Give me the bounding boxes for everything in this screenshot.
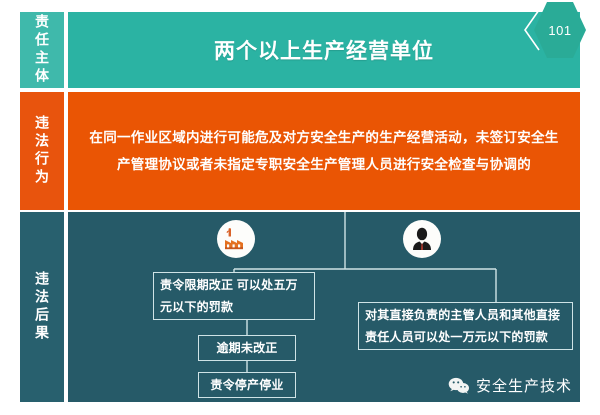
page-number-text: 101 — [548, 23, 571, 38]
slide-root: 责任主体 两个以上生产经营单位 101 违法行为 在同一作业区域内进行可能危及对… — [0, 0, 600, 415]
row-label-text: 违法后果 — [35, 271, 49, 343]
illegal-act-description: 在同一作业区域内进行可能危及对方安全生产的生产经营活动，未签订安全生产管理协议或… — [88, 92, 560, 210]
row-responsible-subject: 责任主体 两个以上生产经营单位 — [20, 12, 580, 88]
consequence-box-overdue: 逾期未改正 — [198, 335, 296, 361]
row-label-legal-consequence: 违法后果 — [20, 212, 64, 402]
row-body-responsible-subject: 两个以上生产经营单位 — [68, 12, 580, 88]
consequence-box-stop-production: 责令停产停业 — [198, 372, 296, 398]
row-legal-consequence: 违法后果 — [20, 212, 580, 402]
row-label-text: 责任主体 — [35, 14, 49, 86]
row-label-text: 违法行为 — [35, 115, 49, 187]
watermark-text: 安全生产技术 — [476, 375, 572, 396]
businessman-glyph — [410, 227, 434, 251]
factory-icon — [217, 220, 255, 258]
row-illegal-act: 违法行为 在同一作业区域内进行可能危及对方安全生产的生产经营活动，未签订安全生产… — [20, 92, 580, 210]
row-label-responsible-subject: 责任主体 — [20, 12, 64, 88]
consequence-box-order-correction: 责令限期改正 可以处五万元以下的罚款 — [153, 272, 315, 320]
page-number-badge: 101 — [524, 2, 586, 58]
factory-glyph — [224, 228, 248, 250]
row-label-illegal-act: 违法行为 — [20, 92, 64, 210]
row-body-legal-consequence: 责令限期改正 可以处五万元以下的罚款 逾期未改正 责令停产停业 对其直接负责的主… — [68, 212, 580, 402]
consequence-flowchart: 责令限期改正 可以处五万元以下的罚款 逾期未改正 责令停产停业 对其直接负责的主… — [68, 212, 580, 402]
person-icon — [403, 220, 441, 258]
hexagon-shape: 101 — [534, 2, 586, 58]
consequence-box-personal-liability: 对其直接负责的主管人员和其他直接责任人员可以处一万元以下的罚款 — [358, 302, 573, 350]
watermark: 安全生产技术 — [448, 375, 572, 396]
wechat-icon — [448, 377, 470, 395]
row-body-illegal-act: 在同一作业区域内进行可能危及对方安全生产的生产经营活动，未签订安全生产管理协议或… — [68, 92, 580, 210]
page-title: 两个以上生产经营单位 — [68, 12, 580, 88]
